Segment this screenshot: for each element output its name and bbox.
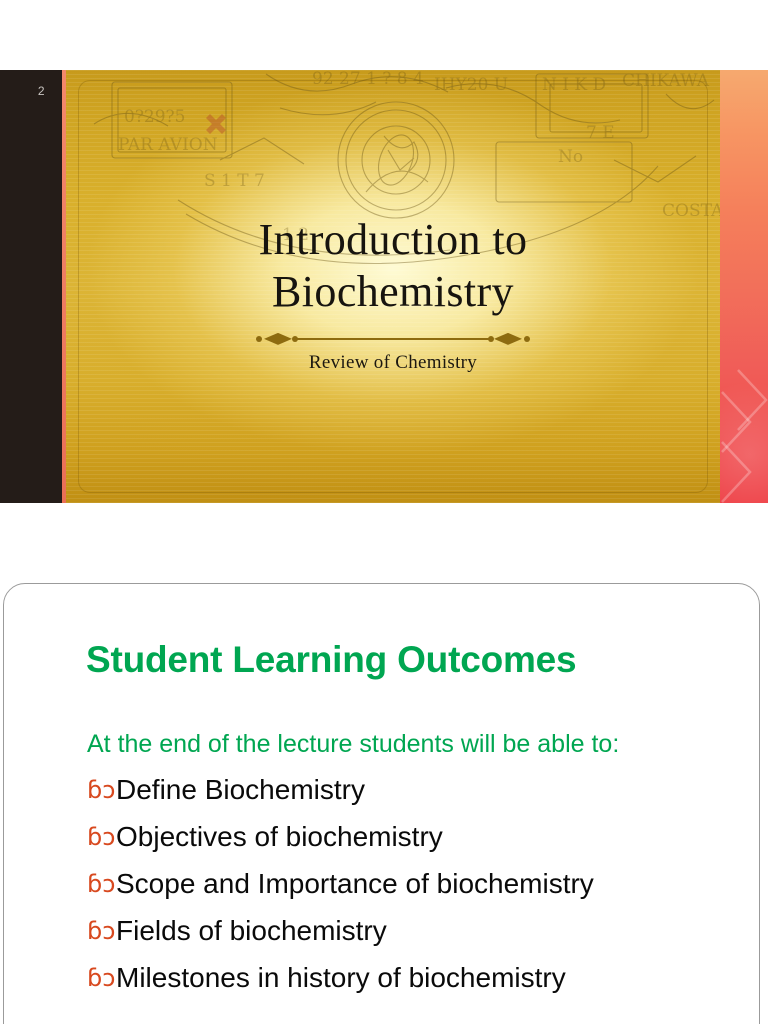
- slide-subtitle: Review of Chemistry: [66, 352, 720, 374]
- ornament-bullet-icon: ɓɔ: [87, 872, 116, 896]
- slide-title-block: Introduction to Biochemistry Review of C…: [66, 214, 720, 374]
- divider-diamond-right: [494, 333, 522, 345]
- svg-text:CHIKAWA: CHIKAWA: [622, 71, 710, 91]
- list-item-label: Fields of biochemistry: [116, 917, 387, 945]
- divider-dot-right-outer: [524, 336, 530, 342]
- ornament-bullet-icon: ɓɔ: [87, 966, 116, 990]
- divider-diamond-left: [264, 333, 292, 345]
- strip-glow: [720, 370, 768, 503]
- svg-text:S 1 T 7: S 1 T 7: [204, 171, 265, 191]
- slide-canvas: 0?29?5 PAR AVION 92 27 1 ? 8 4 IHY20 U N…: [66, 70, 720, 503]
- list-item: ɓɔ Fields of biochemistry: [87, 917, 737, 964]
- divider-bar: [295, 338, 491, 340]
- ornament-bullet-icon: ɓɔ: [87, 919, 116, 943]
- slide-title-line-1: Introduction to: [66, 214, 720, 266]
- svg-text:N I K D: N I K D: [542, 75, 606, 95]
- svg-text:0?29?5: 0?29?5: [124, 107, 186, 127]
- ornament-bullet-icon: ɓɔ: [87, 778, 116, 802]
- slide-outcomes-card: Student Learning Outcomes At the end of …: [3, 583, 760, 1024]
- slide-title-line-2: Biochemistry: [66, 266, 720, 318]
- page-title: Student Learning Outcomes: [86, 639, 576, 681]
- slides-page: 2: [0, 0, 768, 1024]
- slide-accent-strip: [720, 70, 768, 503]
- list-item-label: Objectives of biochemistry: [116, 823, 443, 851]
- slide-title-image: 2: [0, 70, 768, 503]
- svg-text:7 E: 7 E: [586, 123, 615, 143]
- list-item-label: Milestones in history of biochemistry: [116, 964, 566, 992]
- ornament-divider: [253, 332, 533, 346]
- slide-page-number: 2: [38, 84, 45, 98]
- svg-text:IHY20 U: IHY20 U: [434, 75, 508, 95]
- list-item: ɓɔ Define Biochemistry: [87, 776, 737, 823]
- svg-text:PAR AVION: PAR AVION: [118, 135, 218, 155]
- outcomes-lead-text: At the end of the lecture students will …: [87, 730, 619, 759]
- slide-title: Introduction to Biochemistry: [66, 214, 720, 318]
- divider-dot-left-outer: [256, 336, 262, 342]
- svg-text:No: No: [558, 147, 583, 167]
- list-item-label: Define Biochemistry: [116, 776, 365, 804]
- slide-sidebar: 2: [0, 70, 62, 503]
- divider-dot-right-inner: [488, 336, 494, 342]
- outcomes-list: ɓɔ Define Biochemistry ɓɔ Objectives of …: [87, 776, 737, 1011]
- ornament-bullet-icon: ɓɔ: [87, 825, 116, 849]
- list-item-label: Scope and Importance of biochemistry: [116, 870, 594, 898]
- svg-text:92 27 1 ? 8 4: 92 27 1 ? 8 4: [312, 70, 424, 89]
- list-item: ɓɔ Scope and Importance of biochemistry: [87, 870, 737, 917]
- list-item: ɓɔ Objectives of biochemistry: [87, 823, 737, 870]
- list-item: ɓɔ Milestones in history of biochemistry: [87, 964, 737, 1011]
